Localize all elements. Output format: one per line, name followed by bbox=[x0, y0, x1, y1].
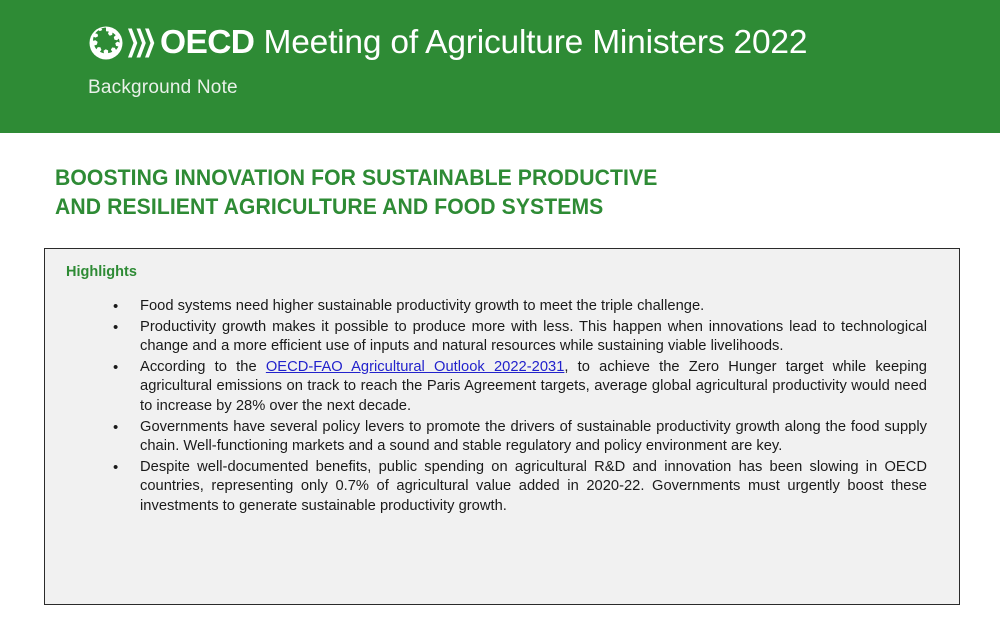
header-title-rest: Meeting of Agriculture Ministers 2022 bbox=[254, 24, 807, 61]
list-item: • Despite well-documented benefits, publ… bbox=[45, 458, 939, 517]
list-item-text: Despite well-documented benefits, public… bbox=[140, 458, 927, 517]
header-title-row: OECD Meeting of Agriculture Ministers 20… bbox=[88, 20, 807, 66]
list-item-text: Productivity growth makes it possible to… bbox=[140, 318, 927, 357]
bullet-marker-icon: • bbox=[113, 458, 125, 478]
bullet-marker-icon: • bbox=[113, 358, 125, 378]
oecd-fao-agricultural-outlook-link[interactable]: OECD-FAO Agricultural Outlook 2022-2031 bbox=[266, 359, 565, 375]
page-title: BOOSTING INNOVATION FOR SUSTAINABLE PROD… bbox=[55, 163, 807, 221]
list-item: • Governments have several policy levers… bbox=[45, 418, 939, 457]
oecd-globe-chevrons-logo bbox=[88, 25, 158, 61]
header-logo-text: OECD bbox=[160, 24, 254, 61]
page-title-line-1: BOOSTING INNOVATION FOR SUSTAINABLE PROD… bbox=[55, 163, 807, 192]
bullet-marker-icon: • bbox=[113, 297, 125, 317]
bullet-marker-icon: • bbox=[113, 418, 125, 438]
header-title: OECD Meeting of Agriculture Ministers 20… bbox=[160, 25, 807, 61]
bullet-marker-icon: • bbox=[113, 318, 125, 338]
list-item: • Productivity growth makes it possible … bbox=[45, 318, 939, 357]
list-item-text: Governments have several policy levers t… bbox=[140, 418, 927, 457]
list-item: • According to the OECD-FAO Agricultural… bbox=[45, 358, 939, 417]
header-subtitle: Background Note bbox=[88, 76, 807, 100]
page-header-banner: OECD Meeting of Agriculture Ministers 20… bbox=[0, 0, 1000, 133]
list-item-text: According to the OECD-FAO Agricultural O… bbox=[140, 358, 927, 417]
list-item-text: Food systems need higher sustainable pro… bbox=[140, 297, 927, 317]
list-item: • Food systems need higher sustainable p… bbox=[45, 297, 939, 317]
highlights-box: Highlights • Food systems need higher su… bbox=[44, 248, 960, 605]
highlights-bullet-list: • Food systems need higher sustainable p… bbox=[45, 297, 961, 518]
list-item-text-before-link: According to the bbox=[140, 359, 266, 375]
page-title-line-2: AND RESILIENT AGRICULTURE AND FOOD SYSTE… bbox=[55, 192, 807, 221]
header-content: OECD Meeting of Agriculture Ministers 20… bbox=[88, 20, 807, 100]
highlights-heading: Highlights bbox=[66, 263, 137, 281]
